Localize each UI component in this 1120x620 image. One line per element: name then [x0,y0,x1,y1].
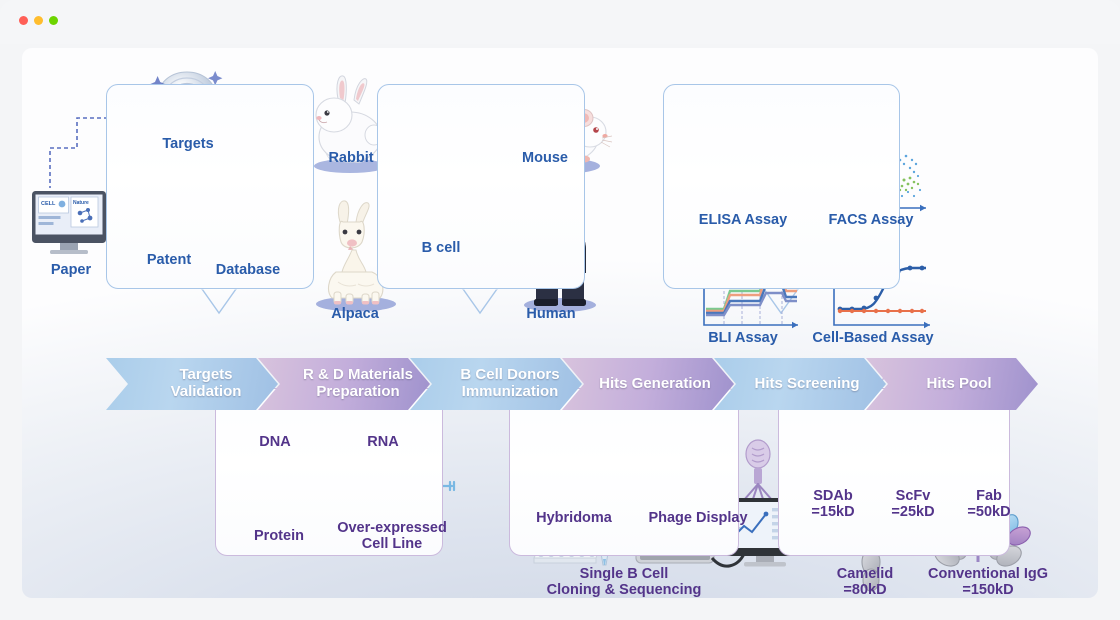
panel-hits-screening-assays [663,84,900,289]
panel-b-cell-donors [377,84,585,289]
label-scfv-line1: ScFv [896,488,931,504]
step-line2: Validation [157,383,242,400]
panel-hits-pool [778,388,1010,556]
pipeline-step-b-cell-immunization[interactable]: B Cell DonorsImmunization [410,358,582,410]
label-rabbit: Rabbit [318,150,384,166]
step-line1: Hits Screening [740,376,859,393]
label-cellline: Over-expressed Cell Line [328,520,456,552]
pipeline-step-hits-screening[interactable]: Hits Screening [714,358,886,410]
label-camelid-line2: =80kD [843,582,886,598]
minimize-button[interactable] [34,16,43,25]
label-camelid-line1: Camelid [837,566,893,582]
label-conventional-igg-line1: Conventional IgG [928,566,1048,582]
label-sdab: SDAb =15kD [794,488,872,520]
label-sdab-line2: =15kD [811,504,854,520]
label-phage-display: Phage Display [630,510,766,526]
antibody-discovery-workflow-diagram: CELL Nature [22,48,1098,598]
label-fab: Fab =50kD [950,488,1028,520]
pipeline-step-rd-materials[interactable]: R & D MaterialsPreparation [258,358,430,410]
label-mouse: Mouse [510,150,580,166]
label-scfv-line2: =25kD [891,504,934,520]
pipeline-step-targets-validation[interactable]: TargetsValidation [106,358,278,410]
label-facs-assay: FACS Assay [812,212,930,228]
label-fab-line2: =50kD [967,504,1010,520]
label-conventional-igg-line2: =150kD [962,582,1013,598]
label-single-bcell: Single B Cell Cloning & Sequencing [522,566,726,598]
step-line1: B Cell Donors [446,366,559,383]
svg-text:CELL: CELL [41,201,56,207]
label-hybridoma: Hybridoma [518,510,630,526]
window-titlebar [0,0,1120,44]
pipeline-step-hits-generation[interactable]: Hits Generation [562,358,734,410]
traffic-lights [19,16,58,25]
panel-hits-generation [509,388,739,556]
label-single-bcell-line1: Single B Cell [580,566,669,582]
svg-text:Nature: Nature [73,200,89,206]
close-button[interactable] [19,16,28,25]
label-bcell: B cell [410,240,472,256]
step-line2: Immunization [448,383,559,400]
label-alpaca: Alpaca [318,306,392,322]
content-card: CELL Nature [22,48,1098,598]
label-conventional-igg: Conventional IgG =150kD [910,566,1066,598]
label-paper: Paper [36,262,106,278]
label-cellbased-assay: Cell-Based Assay [800,330,946,346]
step-line1: Hits Generation [585,376,711,393]
step-line2: Preparation [302,383,399,400]
pipeline-step-hits-pool[interactable]: Hits Pool [866,358,1038,410]
label-single-bcell-line2: Cloning & Sequencing [547,582,702,598]
label-scfv: ScFv =25kD [874,488,952,520]
panel-tail-b-cell-donors [463,288,497,313]
label-database: Database [204,262,292,278]
label-rna: RNA [352,434,414,450]
label-patent: Patent [134,252,204,268]
label-cellline-line2: Cell Line [362,536,422,552]
label-bli-assay: BLI Assay [688,330,798,346]
label-cellline-line1: Over-expressed [337,520,447,536]
label-fab-line1: Fab [976,488,1002,504]
panel-tail-targets-validation [202,288,236,313]
step-line1: Targets [165,366,232,383]
label-protein: Protein [236,528,322,544]
paper-icon: CELL Nature [32,191,106,254]
step-line1: R & D Materials [289,366,413,383]
maximize-button[interactable] [49,16,58,25]
label-elisa-assay: ELISA Assay [684,212,802,228]
label-sdab-line1: SDAb [813,488,852,504]
label-camelid: Camelid =80kD [818,566,912,598]
label-dna: DNA [244,434,306,450]
step-line1: Hits Pool [912,376,991,393]
label-targets: Targets [154,136,222,152]
label-human: Human [514,306,588,322]
